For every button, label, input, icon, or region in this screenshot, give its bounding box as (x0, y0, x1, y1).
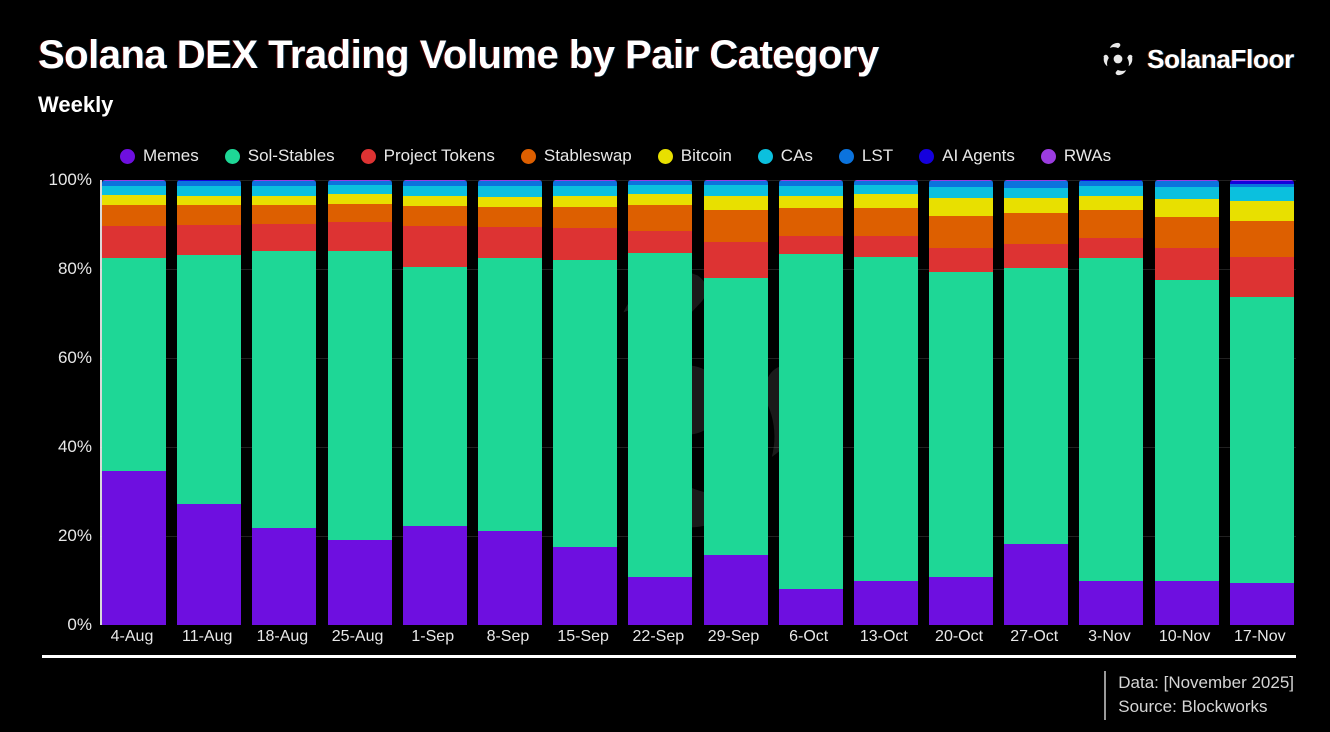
bar-segment-cas (779, 186, 843, 196)
bar-segment-project-tokens (478, 227, 542, 258)
legend-item-memes[interactable]: Memes (120, 146, 199, 166)
bar-segment-memes (854, 581, 918, 625)
legend-swatch-icon (120, 149, 135, 164)
bar-22-sep[interactable] (628, 180, 692, 625)
bar-segment-stableswap (1230, 221, 1294, 257)
bar-segment-memes (1155, 581, 1219, 626)
bar-segment-project-tokens (1155, 248, 1219, 280)
bar-segment-sol-stables (779, 254, 843, 589)
bar-27-oct[interactable] (1004, 180, 1068, 625)
bar-segment-cas (102, 186, 166, 195)
bar-segment-stableswap (628, 205, 692, 232)
y-axis-tick: 40% (58, 437, 92, 457)
legend-swatch-icon (521, 149, 536, 164)
bar-segment-bitcoin (252, 196, 316, 205)
bar-segment-memes (1230, 583, 1294, 625)
y-axis-tick: 20% (58, 526, 92, 546)
bar-segment-cas (403, 186, 467, 196)
bar-segment-memes (1004, 544, 1068, 625)
bar-8-sep[interactable] (478, 180, 542, 625)
bar-segment-sol-stables (177, 255, 241, 504)
legend-label: LST (862, 146, 893, 166)
legend-label: Stableswap (544, 146, 632, 166)
x-axis-label: 3-Nov (1077, 628, 1141, 646)
legend-item-bitcoin[interactable]: Bitcoin (658, 146, 732, 166)
bar-17-nov[interactable] (1230, 180, 1294, 625)
bar-segment-bitcoin (1079, 196, 1143, 210)
bar-segment-sol-stables (628, 253, 692, 577)
y-axis-tick: 80% (58, 259, 92, 279)
bar-segment-stableswap (403, 206, 467, 226)
bar-11-aug[interactable] (177, 180, 241, 625)
legend-label: Sol-Stables (248, 146, 335, 166)
bar-segment-bitcoin (1230, 201, 1294, 221)
footer-source: Source: Blockworks (1118, 695, 1294, 720)
bar-segment-stableswap (1004, 213, 1068, 244)
bar-segment-project-tokens (628, 231, 692, 252)
x-axis-label: 10-Nov (1153, 628, 1217, 646)
bar-segment-bitcoin (102, 195, 166, 205)
bar-segment-stableswap (102, 205, 166, 226)
bar-segment-sol-stables (328, 251, 392, 540)
x-axis-labels: 4-Aug11-Aug18-Aug25-Aug1-Sep8-Sep15-Sep2… (100, 628, 1292, 646)
bar-segment-cas (1004, 188, 1068, 198)
legend-label: Project Tokens (384, 146, 495, 166)
x-axis-label: 27-Oct (1002, 628, 1066, 646)
legend-label: CAs (781, 146, 813, 166)
plot-area: 0%20%40%60%80%100% (38, 180, 1296, 635)
legend-item-lst[interactable]: LST (839, 146, 893, 166)
x-axis-label: 6-Oct (777, 628, 841, 646)
x-axis-label: 13-Oct (852, 628, 916, 646)
legend-label: AI Agents (942, 146, 1015, 166)
bar-group (100, 180, 1296, 625)
bar-segment-sol-stables (478, 258, 542, 531)
page-subtitle: Weekly (38, 92, 1296, 118)
legend-swatch-icon (839, 149, 854, 164)
x-axis-label: 25-Aug (326, 628, 390, 646)
brand: SolanaFloor (1099, 40, 1294, 78)
bar-6-oct[interactable] (779, 180, 843, 625)
bar-segment-stableswap (929, 216, 993, 248)
x-axis-line (42, 655, 1296, 658)
bar-segment-bitcoin (553, 196, 617, 207)
x-axis-label: 4-Aug (100, 628, 164, 646)
bar-segment-stableswap (553, 207, 617, 227)
bar-segment-project-tokens (779, 236, 843, 254)
legend-swatch-icon (919, 149, 934, 164)
bar-segment-cas (704, 185, 768, 196)
bar-segment-memes (478, 531, 542, 625)
bar-segment-cas (929, 187, 993, 198)
legend-item-ai-agents[interactable]: AI Agents (919, 146, 1015, 166)
chart-page: Solana DEX Trading Volume by Pair Catego… (0, 0, 1330, 732)
solanafloor-logo-icon (1099, 40, 1137, 78)
footer: Data: [November 2025] Source: Blockworks (1104, 671, 1294, 720)
bar-segment-project-tokens (553, 228, 617, 260)
bar-segment-cas (328, 185, 392, 194)
bar-25-aug[interactable] (328, 180, 392, 625)
bar-segment-sol-stables (854, 257, 918, 581)
bar-segment-stableswap (854, 208, 918, 236)
bar-segment-cas (1155, 187, 1219, 199)
bar-segment-memes (102, 471, 166, 625)
legend-item-stableswap[interactable]: Stableswap (521, 146, 632, 166)
legend-label: RWAs (1064, 146, 1111, 166)
bar-segment-stableswap (177, 205, 241, 225)
bar-segment-bitcoin (177, 196, 241, 205)
bar-segment-project-tokens (403, 226, 467, 266)
bar-segment-bitcoin (328, 194, 392, 203)
bar-segment-stableswap (1079, 210, 1143, 238)
bar-segment-cas (553, 186, 617, 197)
bar-segment-bitcoin (403, 196, 467, 206)
bar-segment-project-tokens (102, 226, 166, 258)
bar-segment-stableswap (252, 205, 316, 224)
bar-segment-memes (1079, 581, 1143, 626)
bar-segment-project-tokens (854, 236, 918, 257)
bar-segment-bitcoin (628, 194, 692, 205)
legend-item-cas[interactable]: CAs (758, 146, 813, 166)
bar-segment-cas (478, 186, 542, 197)
bar-13-oct[interactable] (854, 180, 918, 625)
bar-segment-memes (403, 526, 467, 625)
y-axis-tick: 60% (58, 348, 92, 368)
bar-segment-project-tokens (704, 242, 768, 278)
chart-legend: MemesSol-StablesProject TokensStableswap… (120, 146, 1111, 166)
bar-segment-sol-stables (102, 258, 166, 471)
bar-segment-sol-stables (252, 251, 316, 528)
bar-29-sep[interactable] (704, 180, 768, 625)
bar-segment-cas (177, 186, 241, 195)
legend-item-rwas[interactable]: RWAs (1041, 146, 1111, 166)
bar-segment-bitcoin (779, 196, 843, 208)
bar-segment-bitcoin (1004, 198, 1068, 213)
bar-segment-sol-stables (553, 260, 617, 547)
x-axis-label: 18-Aug (250, 628, 314, 646)
x-axis-label: 17-Nov (1228, 628, 1292, 646)
x-axis-label: 29-Sep (702, 628, 766, 646)
bar-segment-bitcoin (929, 198, 993, 216)
x-axis-label: 20-Oct (927, 628, 991, 646)
bar-3-nov[interactable] (1079, 180, 1143, 625)
bar-segment-stableswap (478, 207, 542, 227)
bar-segment-memes (553, 547, 617, 625)
bar-segment-project-tokens (1004, 244, 1068, 268)
x-axis-label: 11-Aug (175, 628, 239, 646)
legend-swatch-icon (758, 149, 773, 164)
bar-segment-stableswap (1155, 217, 1219, 248)
bar-segment-sol-stables (1079, 258, 1143, 581)
legend-item-project-tokens[interactable]: Project Tokens (361, 146, 495, 166)
legend-swatch-icon (1041, 149, 1056, 164)
bar-segment-project-tokens (252, 224, 316, 252)
bar-segment-bitcoin (1155, 199, 1219, 217)
bar-segment-project-tokens (1079, 238, 1143, 258)
bar-segment-stableswap (704, 210, 768, 242)
bar-segment-cas (854, 185, 918, 194)
bar-segment-project-tokens (929, 248, 993, 272)
y-axis-tick: 0% (67, 615, 92, 635)
bar-segment-sol-stables (1004, 268, 1068, 544)
bar-segment-sol-stables (1155, 280, 1219, 580)
bar-segment-memes (328, 540, 392, 625)
bar-segment-memes (929, 577, 993, 626)
x-axis-label: 15-Sep (551, 628, 615, 646)
bar-18-aug[interactable] (252, 180, 316, 625)
bar-segment-bitcoin (854, 194, 918, 208)
bar-15-sep[interactable] (553, 180, 617, 625)
bar-segment-stableswap (779, 208, 843, 236)
y-axis-tick: 100% (49, 170, 92, 190)
bar-20-oct[interactable] (929, 180, 993, 625)
bar-segment-memes (704, 555, 768, 625)
bar-segment-stableswap (328, 204, 392, 223)
legend-swatch-icon (361, 149, 376, 164)
bar-segment-project-tokens (1230, 257, 1294, 297)
bar-segment-sol-stables (403, 267, 467, 526)
bar-segment-bitcoin (478, 197, 542, 207)
bar-1-sep[interactable] (403, 180, 467, 625)
x-axis-label: 8-Sep (476, 628, 540, 646)
bar-segment-cas (1230, 187, 1294, 201)
footer-data: Data: [November 2025] (1118, 671, 1294, 696)
bar-segment-memes (177, 504, 241, 625)
bar-segment-cas (628, 185, 692, 194)
bar-4-aug[interactable] (102, 180, 166, 625)
bar-segment-project-tokens (328, 222, 392, 251)
legend-item-sol-stables[interactable]: Sol-Stables (225, 146, 335, 166)
brand-name: SolanaFloor (1147, 44, 1294, 75)
bar-segment-memes (779, 589, 843, 625)
bar-segment-project-tokens (177, 225, 241, 255)
y-axis: 0%20%40%60%80%100% (38, 180, 100, 625)
x-axis-label: 1-Sep (401, 628, 465, 646)
x-axis-label: 22-Sep (626, 628, 690, 646)
bar-segment-sol-stables (929, 272, 993, 576)
legend-label: Bitcoin (681, 146, 732, 166)
legend-swatch-icon (658, 149, 673, 164)
bar-segment-memes (628, 577, 692, 625)
bar-segment-sol-stables (704, 278, 768, 555)
bar-10-nov[interactable] (1155, 180, 1219, 625)
bar-segment-memes (252, 528, 316, 625)
bar-segment-bitcoin (704, 196, 768, 210)
bar-segment-cas (1079, 186, 1143, 196)
legend-label: Memes (143, 146, 199, 166)
bar-segment-cas (252, 186, 316, 196)
legend-swatch-icon (225, 149, 240, 164)
bar-segment-sol-stables (1230, 297, 1294, 584)
